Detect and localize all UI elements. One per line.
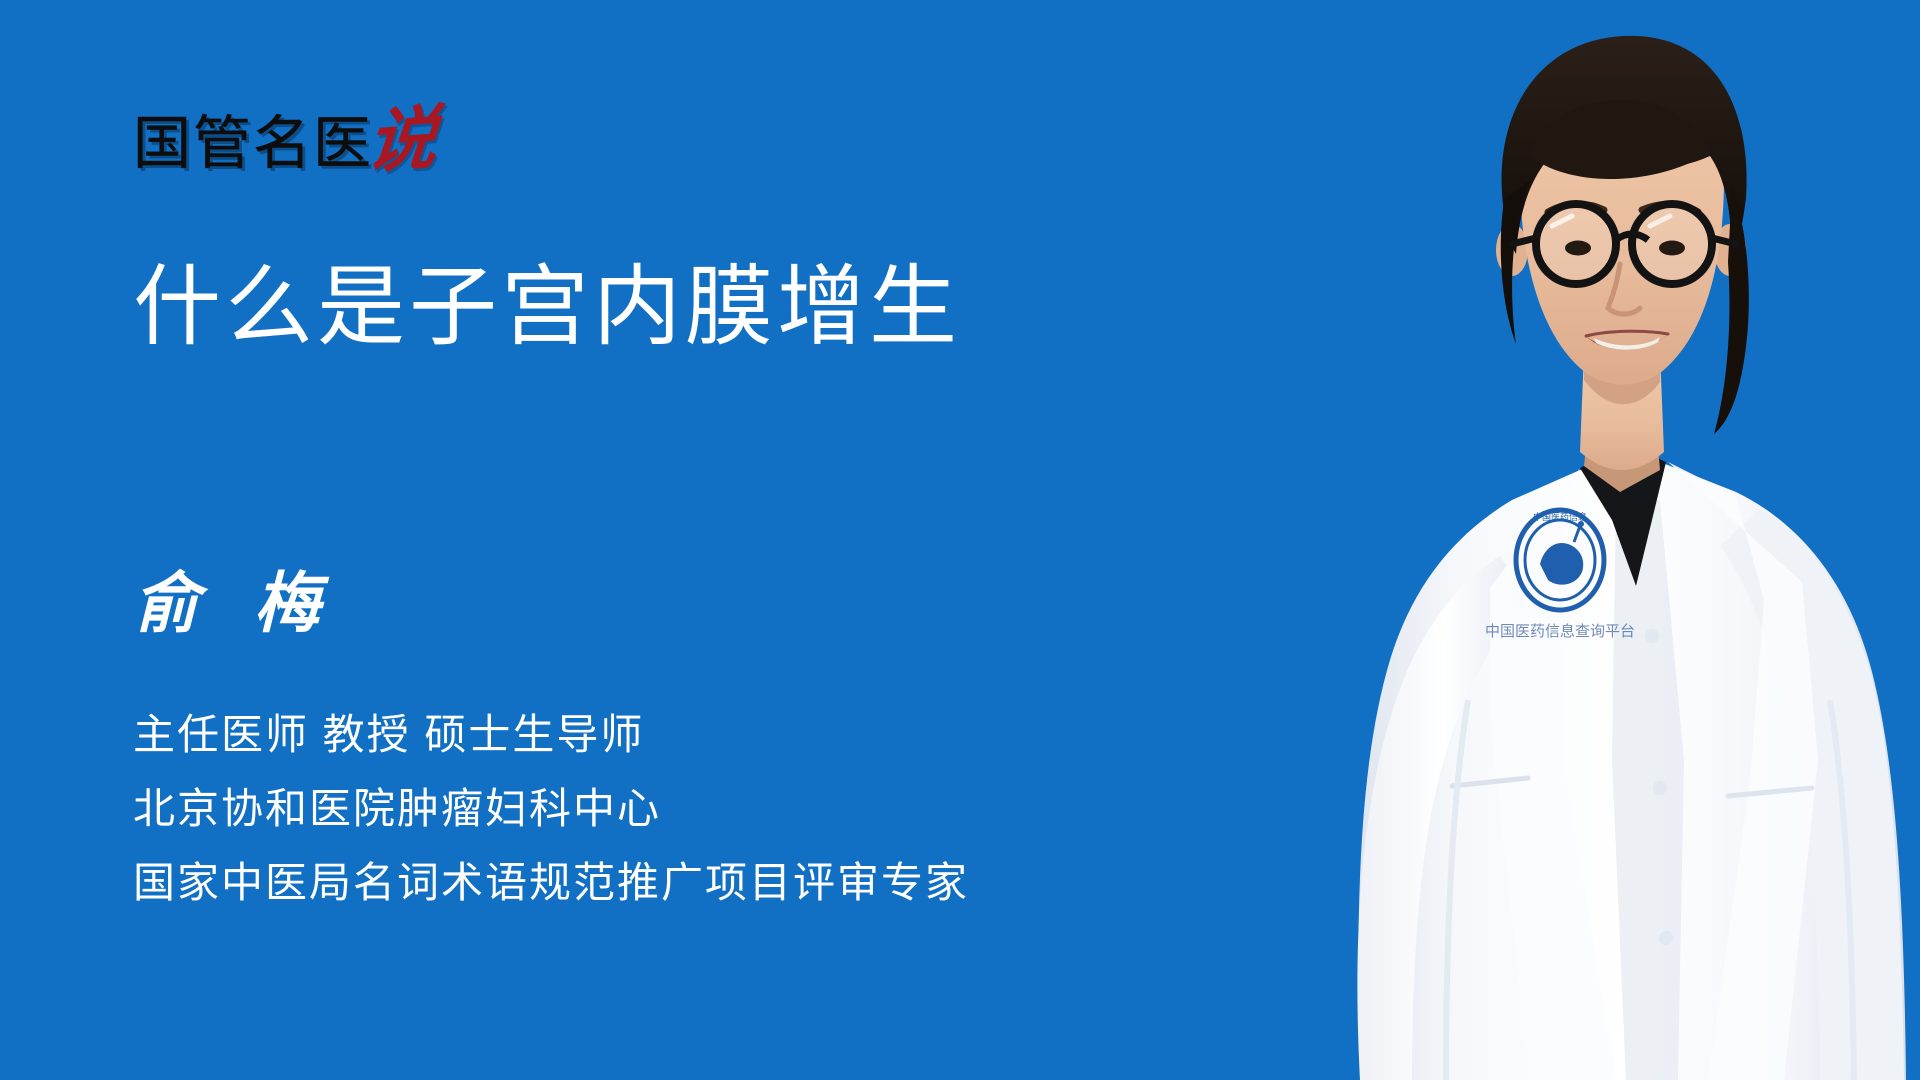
brand-logo: 国管名医 说 — [133, 92, 437, 172]
doctor-head — [1496, 36, 1749, 434]
doctor-name: 俞 梅 — [133, 564, 336, 643]
credential-line-1: 主任医师 教授 硕士生导师 — [133, 712, 969, 758]
slide-canvas: 国管名医 说 什么是子宫内膜增生 俞 梅 主任医师 教授 硕士生导师 北京协和医… — [0, 0, 1920, 1080]
page-title: 什么是子宫内膜增生 — [133, 257, 961, 357]
svg-text:中国医药信息查询平台: 中国医药信息查询平台 — [1485, 622, 1635, 640]
doctor-credentials: 主任医师 教授 硕士生导师 北京协和医院肿瘤妇科中心 国家中医局名词术语规范推广… — [133, 712, 969, 907]
credential-line-3: 国家中医局名词术语规范推广项目评审专家 — [133, 860, 969, 906]
credential-line-2: 北京协和医院肿瘤妇科中心 — [133, 786, 969, 832]
brand-logo-main-text: 国管名医 — [133, 114, 373, 172]
doctor-coat — [1357, 424, 1906, 1080]
brand-logo-accent-text: 说 — [364, 105, 440, 174]
doctor-portrait: 中国医药信息 中国医药信息查询平台 — [1060, 0, 1920, 1080]
svg-text:中国医药信息: 中国医药信息 — [1533, 511, 1587, 523]
